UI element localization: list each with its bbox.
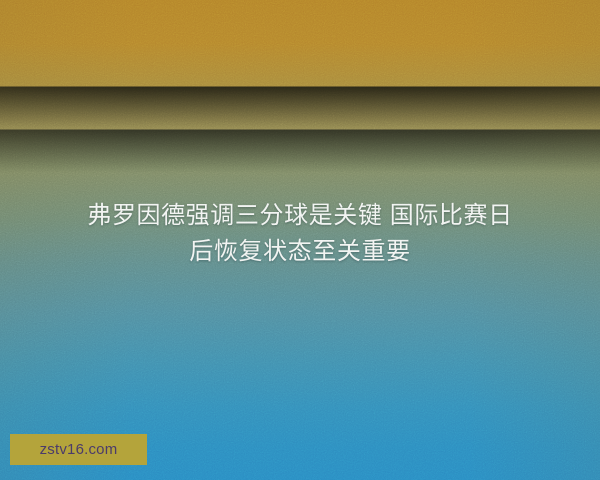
- watermark-text: zstv16.com: [40, 442, 118, 457]
- page-title-line-2: 后恢复状态至关重要: [18, 234, 582, 270]
- watermark-badge: zstv16.com: [10, 434, 147, 465]
- page-title-line-1: 弗罗因德强调三分球是关键 国际比赛日: [18, 198, 582, 234]
- thumbnail-card: 弗罗因德强调三分球是关键 国际比赛日 后恢复状态至关重要 zstv16.com: [0, 0, 600, 480]
- page-title: 弗罗因德强调三分球是关键 国际比赛日 后恢复状态至关重要: [0, 198, 600, 270]
